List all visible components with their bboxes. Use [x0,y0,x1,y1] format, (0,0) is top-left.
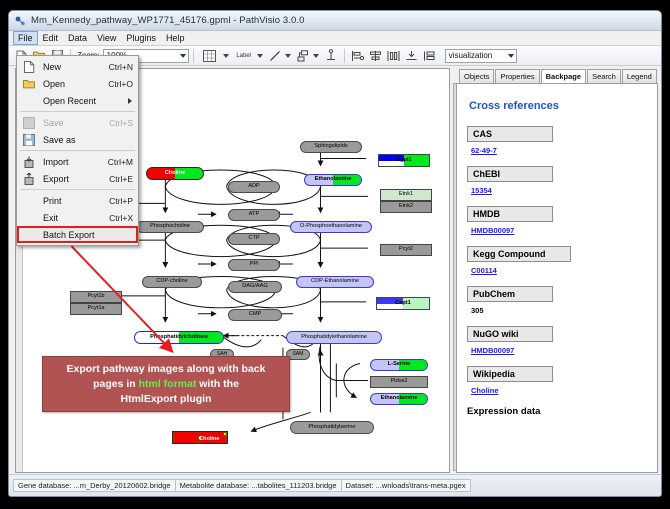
menu-view[interactable]: View [92,31,121,45]
file-menu-item-print[interactable]: Print Ctrl+P [17,192,138,209]
sidebar-tabs: Objects Properties Backpage Search Legen… [453,68,658,83]
xref-value-pubchem: 305 [471,306,647,315]
xref-value-hmdb[interactable]: HMDB00097 [471,226,647,235]
window-titlebar: Mm_Kennedy_pathway_WP1771_45176.gpml - P… [9,11,661,31]
node-etnk1[interactable]: Etnk1 [380,189,432,201]
file-menu-dropdown: New Ctrl+N Open Ctrl+O Open Recent Save … [16,55,139,246]
file-menu-accel: Ctrl+E [109,174,133,184]
status-gene-database: Gene database: ...m_Derby_20120602.bridg… [13,479,176,492]
node-cmp[interactable]: CMP [228,309,282,321]
node-label: Phosphatidylcholines [150,335,208,341]
file-menu-label: Batch Export [43,230,95,240]
callout-line2-post: with the [196,378,239,390]
resize-handle-nw[interactable] [172,431,174,433]
node-label: CMP [249,312,261,318]
node-pcyt1a[interactable]: Pcyt1a [70,303,122,315]
node-dag-aag[interactable]: DAG/AAG [228,281,282,293]
file-menu-item-import[interactable]: Import Ctrl+M [17,153,138,170]
file-menu-accel: Ctrl+O [108,79,133,89]
statusbar: Gene database: ...m_Derby_20120602.bridg… [9,474,661,496]
node-choline-top[interactable]: Choline [146,167,204,180]
node-label: Choline [198,436,202,440]
node-atp[interactable]: ATP [228,209,280,221]
window-title: Mm_Kennedy_pathway_WP1771_45176.gpml - P… [31,15,305,26]
file-menu-accel: Ctrl+P [109,196,133,206]
node-label: Choline [165,171,186,177]
file-menu-item-new[interactable]: New Ctrl+N [17,58,138,75]
chevron-down-icon [180,54,186,58]
node-pcyt2[interactable]: Pcyt2 [380,244,432,256]
pathvisio-app-icon [14,15,26,27]
node-ethanolamine-lower[interactable]: Ethanolamine [370,393,428,405]
align-left-button[interactable] [350,48,366,63]
node-phosphocholine[interactable]: Phosphocholine [136,221,204,233]
tab-properties[interactable]: Properties [495,69,539,83]
shape-button[interactable] [295,48,311,63]
node-choline-bottom-selected[interactable]: Choline [172,431,228,444]
file-menu-separator-3 [20,189,135,190]
status-metabolite-database: Metabolite database: ...tabolites_111203… [176,479,342,492]
align-center-button[interactable] [368,48,384,63]
node-label: Ethanolamine [315,177,352,183]
expression-data-heading: Expression data [467,406,647,417]
node-sgpl1[interactable]: Sgpl1 [378,154,430,167]
file-menu-item-exit[interactable]: Exit Ctrl+X [17,209,138,226]
node-label: Phosphatidylethanolamine [301,335,367,341]
file-menu-accel: Ctrl+N [109,62,133,72]
tab-search[interactable]: Search [587,69,621,83]
backpage-panel: Cross references CAS 62-49-7 ChEBI 15354… [456,83,658,473]
node-cdp-ethanolamine[interactable]: CDP-Ethanolamine [296,276,374,288]
file-menu-item-save: Save Ctrl+S [17,114,138,131]
node-o-phosphoethanolamine[interactable]: O-Phosphoethanolamine [290,221,372,233]
node-label: Cept1 [395,301,411,307]
file-menu-item-open-recent[interactable]: Open Recent [17,92,138,109]
chevron-right-icon [128,98,132,104]
node-phosphatidylethanolamine[interactable]: Phosphatidylethanolamine [286,331,382,344]
file-menu-item-save-as[interactable]: Save as [17,131,138,148]
resize-handle-s[interactable] [197,442,201,444]
resize-handle-n[interactable] [197,431,201,433]
line-button[interactable] [267,48,283,63]
pathvisio-window: Mm_Kennedy_pathway_WP1771_45176.gpml - P… [8,10,662,497]
open-folder-icon [23,78,35,90]
node-ptdss2[interactable]: Ptdss2 [370,376,428,388]
menu-data[interactable]: Data [63,31,92,45]
file-menu-separator-1 [20,111,135,112]
resize-handle-e[interactable] [226,436,228,440]
node-phosphatidylserine[interactable]: Phosphatidylserine [290,421,374,434]
toolbar-separator-2 [193,49,194,63]
node-ethanolamine-upper[interactable]: Ethanolamine [304,174,362,186]
node-etnk2[interactable]: Etnk2 [380,201,432,213]
menu-help[interactable]: Help [161,31,190,45]
node-label: Etnk2 [399,204,413,210]
stack-button[interactable] [404,48,420,63]
node-label: Etnk1 [399,192,413,198]
node-l-serine[interactable]: L-Serine [370,359,428,371]
cross-references-heading: Cross references [469,100,647,112]
node-label: CTP [248,236,259,242]
new-file-icon [23,61,35,73]
file-menu-item-open[interactable]: Open Ctrl+O [17,75,138,92]
node-cdp-choline[interactable]: CDP-choline [142,276,202,288]
node-label: Ptdss2 [390,379,407,385]
menu-file[interactable]: File [13,31,38,45]
file-menu-label: Export [43,174,69,184]
file-menu-label: Exit [43,213,58,223]
file-menu-label: Save [43,118,64,128]
node-label: ATP [249,212,259,218]
node-ctp[interactable]: CTP [228,233,280,245]
anchor-button[interactable] [323,48,339,63]
menu-plugins[interactable]: Plugins [121,31,161,45]
xref-value-cas[interactable]: 62-49-7 [471,146,647,155]
node-label: O-Phosphoethanolamine [300,224,362,230]
visualization-combobox[interactable]: visualization [445,49,517,63]
group-button[interactable] [422,48,438,63]
callout-line-3: HtmlExport plugin [121,392,212,407]
node-label: Phosphatidylserine [308,425,355,431]
menubar: File Edit Data View Plugins Help [9,31,661,46]
annotation-callout: Export pathway images along with back pa… [42,356,290,412]
label-button[interactable]: Label [233,48,255,63]
file-menu-label: Save as [43,135,76,145]
node-label: Pcyt1a [87,306,104,312]
node-label: Sgpl1 [396,158,411,164]
node-label: DAG/AAG [242,284,268,290]
status-dataset: Dataset: ...wnloads\trans-meta.pgex [342,479,471,492]
xref-head-pubchem: PubChem [467,286,553,302]
grid-button[interactable] [199,48,221,63]
grid-dropdown-arrow-icon[interactable] [223,54,229,58]
file-menu-label: Open [43,79,65,89]
xref-head-kegg: Kegg Compound [467,246,571,262]
callout-line-2: pages in html format with the [93,377,239,392]
node-phosphatidylcholines[interactable]: Phosphatidylcholines [134,331,224,344]
tab-legend[interactable]: Legend [622,69,657,83]
resize-handle-ne[interactable] [226,431,228,433]
node-ppi[interactable]: PPi [228,259,280,271]
file-menu-accel: Ctrl+M [108,157,133,167]
save-icon [23,117,35,129]
node-label: CDP-Ethanolamine [311,279,359,285]
toolbar-separator-3 [344,49,345,63]
callout-line2-pre: pages in [93,378,139,390]
node-sphingolipids[interactable]: Sphingolipids [300,141,362,153]
file-menu-label: Print [43,196,62,206]
screenshot-root: Mm_Kennedy_pathway_WP1771_45176.gpml - P… [0,0,670,509]
visualization-value: visualization [449,51,493,60]
resize-handle-w[interactable] [172,436,174,440]
callout-line-1: Export pathway images along with back [67,362,266,377]
save-as-icon [23,134,35,146]
label-dropdown-arrow-icon[interactable] [257,54,263,58]
shape-dropdown-arrow-icon[interactable] [313,54,319,58]
node-pcyt1b[interactable]: Pcyt1b [70,291,122,303]
menu-edit[interactable]: Edit [38,31,64,45]
file-menu-label: Open Recent [43,96,96,106]
file-menu-accel: Ctrl+S [109,118,133,128]
right-sidebar: Objects Properties Backpage Search Legen… [453,68,658,473]
tab-backpage[interactable]: Backpage [541,69,586,84]
tab-objects[interactable]: Objects [459,69,494,83]
file-menu-item-batch-export[interactable]: Batch Export [17,226,138,243]
node-label: SAM [293,352,304,357]
resize-handle-sw[interactable] [172,442,174,444]
xref-head-chebi: ChEBI [467,166,553,182]
xref-head-nugo: NuGO wiki [467,326,553,342]
node-label: L-Serine [388,362,410,368]
file-menu-label: New [43,62,61,72]
node-adp[interactable]: ADP [228,181,280,193]
distribute-button[interactable] [386,48,402,63]
file-menu-separator-2 [20,150,135,151]
import-icon [23,156,35,168]
node-label: PPi [250,262,259,268]
xref-head-wikipedia: Wikipedia [467,366,553,382]
line-dropdown-arrow-icon[interactable] [285,54,291,58]
xref-value-kegg[interactable]: C00114 [471,266,647,275]
chevron-down-icon [508,54,514,58]
node-cept1[interactable]: Cept1 [376,297,430,310]
node-label: Ethanolamine [381,396,418,402]
xref-head-hmdb: HMDB [467,206,553,222]
node-label: Phosphocholine [150,224,190,230]
node-label: ADP [248,184,260,190]
node-label: CDP-choline [156,279,187,285]
xref-head-cas: CAS [467,126,553,142]
file-menu-label: Import [43,157,69,167]
callout-highlight: html format [139,378,197,390]
file-menu-item-export[interactable]: Export Ctrl+E [17,170,138,187]
export-icon [23,173,35,185]
resize-handle-se[interactable] [226,442,228,444]
node-label: Sphingolipids [314,144,347,150]
node-label: Pcyt2 [399,247,413,253]
node-label: Pcyt1b [87,294,104,300]
xref-value-chebi[interactable]: 15354 [471,186,647,195]
xref-value-wikipedia[interactable]: Choline [471,386,647,395]
file-menu-accel: Ctrl+X [109,213,133,223]
xref-value-nugo[interactable]: HMDB00097 [471,346,647,355]
